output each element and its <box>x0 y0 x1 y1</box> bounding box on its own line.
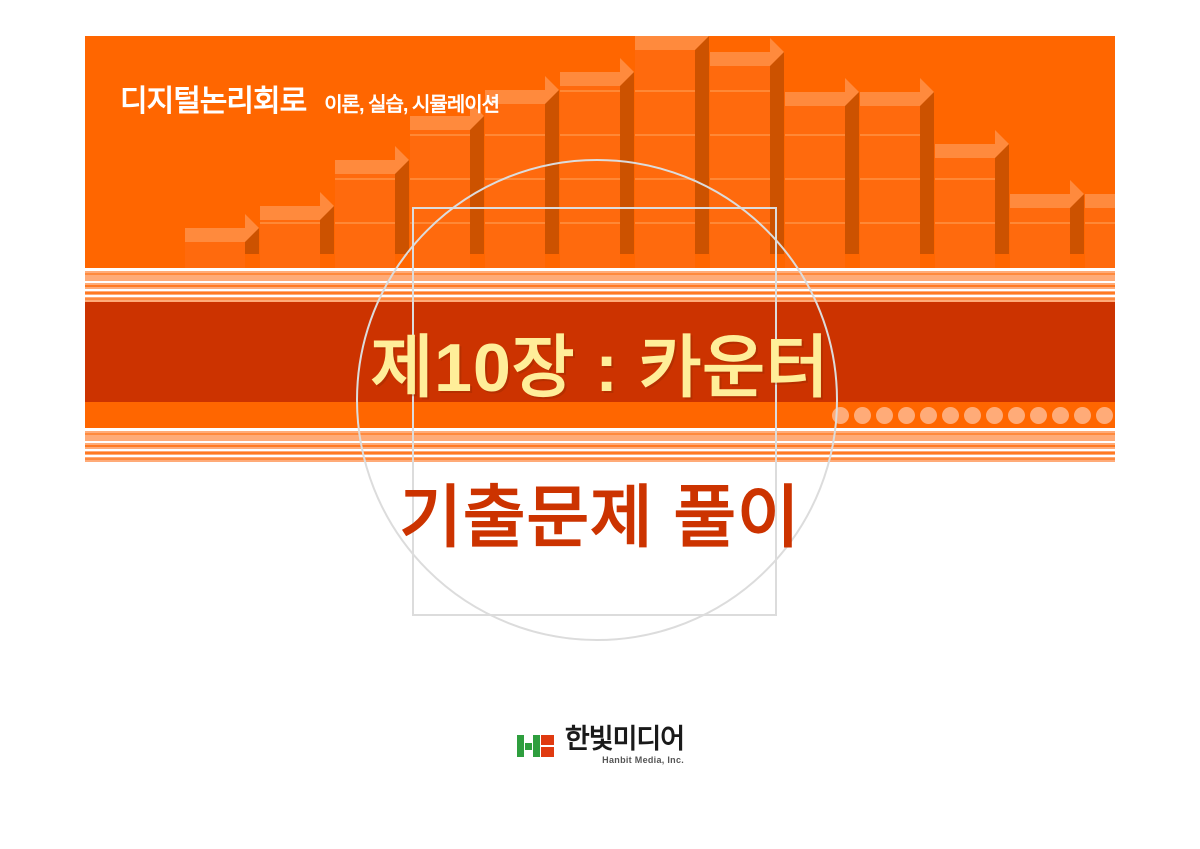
bar-side-face <box>470 116 484 254</box>
stripe-line <box>85 428 1115 431</box>
bar-segment-line <box>560 90 620 92</box>
bar-segment-line <box>260 222 320 224</box>
bar-top-face <box>635 36 695 50</box>
bar-front-face <box>260 220 320 268</box>
stripe-line <box>85 433 1115 435</box>
bar-segment-line <box>710 178 770 180</box>
bar-segment-line <box>410 134 470 136</box>
bar-segment-line <box>410 222 470 224</box>
stripe-line <box>85 292 1115 294</box>
decorative-bar <box>635 36 695 268</box>
bar-segment-line <box>785 222 845 224</box>
bar-top-face <box>935 144 995 158</box>
publisher-logo: 한빛미디어 Hanbit Media, Inc. <box>0 726 1200 765</box>
bar-front-face <box>635 50 695 268</box>
hero-heading: 디지털논리회로 이론, 실습, 시뮬레이션 <box>120 76 499 120</box>
decorative-bar <box>1085 194 1115 268</box>
bar-top-face <box>560 72 620 86</box>
bar-segment-line <box>935 178 995 180</box>
page-title: 제10장 : 카운터 <box>85 312 1115 411</box>
bar-segment-line <box>635 90 695 92</box>
bar-segment-line <box>1010 222 1070 224</box>
book-title: 디지털논리회로 <box>120 76 306 120</box>
decorative-bar <box>410 116 470 268</box>
decorative-bar <box>860 92 920 268</box>
decorative-bar <box>1010 194 1070 268</box>
stripe-line <box>85 445 1115 447</box>
stripe-line <box>85 449 1115 451</box>
hanbit-hb-logo-icon <box>516 731 556 761</box>
stripe-line <box>85 455 1115 457</box>
bar-front-face <box>860 106 920 268</box>
bar-segment-line <box>935 222 995 224</box>
bar-side-face <box>620 72 634 254</box>
decorative-bar <box>560 72 620 268</box>
bar-segment-line <box>860 178 920 180</box>
bar-side-face <box>770 52 784 254</box>
stripe-line <box>85 273 1115 275</box>
stripe-line <box>85 285 1115 287</box>
bar-top-face <box>1010 194 1070 208</box>
bar-segment-line <box>710 222 770 224</box>
bar-front-face <box>1010 208 1070 268</box>
stripe-line <box>85 298 1115 300</box>
bar-front-face <box>485 104 545 268</box>
book-subtitle: 이론, 실습, 시뮬레이션 <box>324 88 499 117</box>
bar-segment-line <box>785 178 845 180</box>
bar-segment-line <box>485 178 545 180</box>
bar-front-face <box>560 86 620 268</box>
hero-banner <box>85 36 1115 268</box>
bar-top-face <box>710 52 770 66</box>
stripe-line <box>85 268 1115 271</box>
decorative-bar <box>785 92 845 268</box>
decorative-bar <box>935 144 995 268</box>
bar-segment-line <box>860 222 920 224</box>
bar-segment-line <box>785 134 845 136</box>
bar-top-face <box>1085 194 1115 208</box>
bar-front-face <box>185 242 245 268</box>
bar-chart-decoration <box>85 36 1115 268</box>
bar-side-face <box>695 36 709 254</box>
page-subtitle: 기출문제 풀이 <box>85 462 1115 561</box>
bar-top-face <box>785 92 845 106</box>
stripe-line <box>85 289 1115 291</box>
decorative-bar <box>185 228 245 268</box>
stripe-line <box>85 452 1115 454</box>
stripe-line <box>85 281 1115 283</box>
bar-segment-line <box>560 222 620 224</box>
bar-front-face <box>410 130 470 268</box>
bar-segment-line <box>635 134 695 136</box>
bar-segment-line <box>560 178 620 180</box>
bar-segment-line <box>335 178 395 180</box>
bar-top-face <box>260 206 320 220</box>
bar-segment-line <box>635 222 695 224</box>
bar-front-face <box>335 174 395 268</box>
stripe-line <box>85 458 1115 460</box>
stripe-band-bottom <box>85 428 1115 462</box>
logo-name-english: Hanbit Media, Inc. <box>602 756 684 765</box>
bar-top-face <box>185 228 245 242</box>
bar-segment-line <box>635 178 695 180</box>
bar-segment-line <box>335 222 395 224</box>
bar-segment-line <box>710 134 770 136</box>
decorative-bar <box>710 52 770 268</box>
bar-top-face <box>335 160 395 174</box>
slide-canvas: 디지털논리회로 이론, 실습, 시뮬레이션 제10장 : 카운터 기출문제 풀이… <box>0 0 1200 849</box>
bar-top-face <box>860 92 920 106</box>
bar-side-face <box>920 92 934 254</box>
bar-segment-line <box>560 134 620 136</box>
bar-side-face <box>845 92 859 254</box>
bar-segment-line <box>485 134 545 136</box>
decorative-bar <box>335 160 395 268</box>
decorative-bar <box>260 206 320 268</box>
bar-side-face <box>395 160 409 254</box>
bar-front-face <box>1085 208 1115 268</box>
bar-side-face <box>545 90 559 254</box>
bar-segment-line <box>860 134 920 136</box>
bar-segment-line <box>710 90 770 92</box>
bar-front-face <box>710 66 770 268</box>
bar-side-face <box>995 144 1009 254</box>
bar-front-face <box>785 106 845 268</box>
bar-segment-line <box>485 222 545 224</box>
bar-segment-line <box>1085 222 1115 224</box>
stripe-band-top <box>85 268 1115 302</box>
bar-front-face <box>935 158 995 268</box>
stripe-line <box>85 295 1115 297</box>
bar-segment-line <box>410 178 470 180</box>
stripe-line <box>85 441 1115 443</box>
logo-name-korean: 한빛미디어 <box>565 726 684 753</box>
